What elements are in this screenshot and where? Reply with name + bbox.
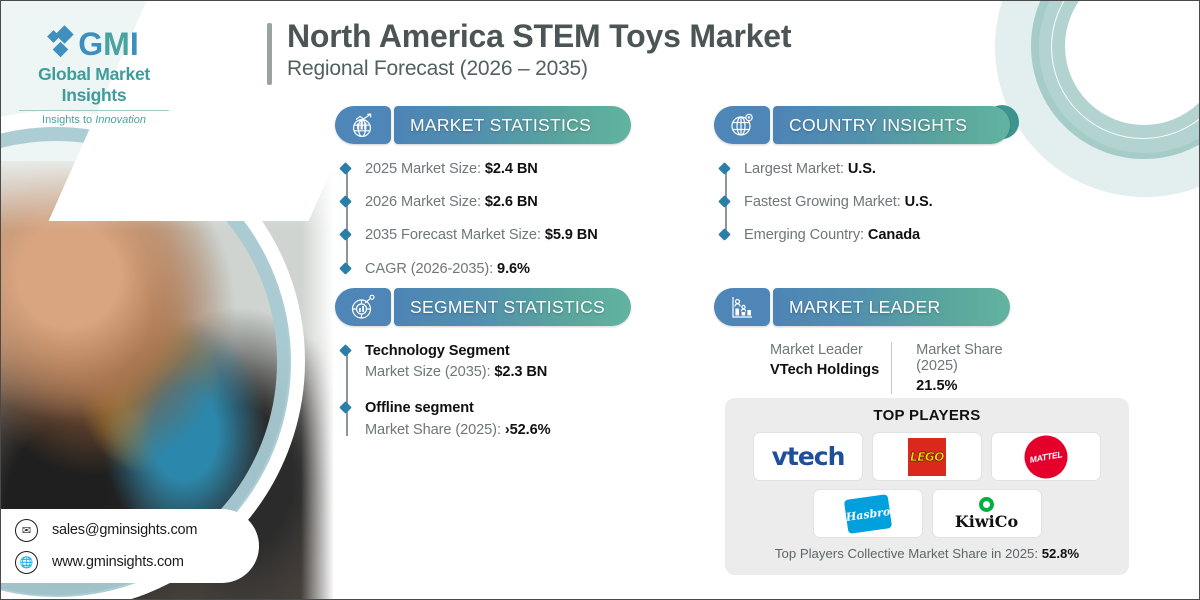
item-label: 2025 Market Size: bbox=[365, 161, 485, 177]
bullet-icon bbox=[718, 162, 731, 175]
item-label: Fastest Growing Market: bbox=[744, 194, 905, 210]
logo-company-name: Global Market Insights bbox=[13, 64, 175, 106]
market-leader-header: MARKET LEADER bbox=[714, 288, 1010, 326]
market-share-block: Market Share (2025) 21.5% bbox=[891, 342, 1014, 394]
list-item: CAGR (2026-2035): 9.6% bbox=[365, 260, 635, 278]
bullet-icon bbox=[339, 402, 352, 415]
country-insights-label: COUNTRY INSIGHTS bbox=[789, 115, 967, 136]
item-heading: Technology Segment bbox=[365, 342, 635, 360]
contact-email-row[interactable]: ✉ sales@gminsights.com bbox=[15, 519, 259, 542]
page-subtitle: Regional Forecast (2026 – 2035) bbox=[287, 57, 791, 81]
market-share-caption: Market Share (2025) bbox=[916, 342, 1014, 374]
bullet-icon bbox=[339, 195, 352, 208]
top-players-row-1: vtech LEGO MATTEL bbox=[737, 432, 1117, 481]
player-logo-vtech: vtech bbox=[753, 432, 863, 481]
top-players-row-2: Hasbro KiwiCo bbox=[737, 489, 1117, 538]
list-item: 2035 Forecast Market Size: $5.9 BN bbox=[365, 226, 635, 244]
market-leader-label: MARKET LEADER bbox=[789, 297, 940, 318]
logo-divider bbox=[19, 110, 169, 111]
list-item: Technology Segment Market Size (2035): $… bbox=[365, 342, 635, 381]
list-item: Offline segment Market Share (2025): ›52… bbox=[365, 399, 635, 438]
bullet-icon bbox=[718, 229, 731, 242]
hasbro-wordmark: Hasbro bbox=[843, 494, 891, 534]
page-title: North America STEM Toys Market bbox=[287, 17, 791, 55]
segment-statistics-label: SEGMENT STATISTICS bbox=[410, 297, 605, 318]
item-value: $2.6 BN bbox=[485, 194, 538, 210]
top-players-note: Top Players Collective Market Share in 2… bbox=[737, 546, 1117, 561]
logo-initials: GMI bbox=[78, 28, 138, 60]
market-statistics-list: 2025 Market Size: $2.4 BN 2026 Market Si… bbox=[335, 160, 635, 278]
item-label: Market Share (2025): bbox=[365, 422, 505, 438]
market-leader-details: Market Leader VTech Holdings Market Shar… bbox=[770, 342, 1014, 394]
logo-mark: GMI bbox=[13, 27, 175, 61]
pie-chart-target-icon bbox=[335, 288, 391, 326]
bullet-icon bbox=[718, 195, 731, 208]
market-leader-value: VTech Holdings bbox=[770, 362, 891, 378]
contact-website-row[interactable]: 🌐 www.gminsights.com bbox=[15, 551, 259, 574]
decorative-arc-hairline bbox=[1051, 0, 1200, 139]
list-item: 2026 Market Size: $2.6 BN bbox=[365, 193, 635, 211]
market-leader-name-block: Market Leader VTech Holdings bbox=[770, 342, 891, 378]
market-statistics-label: MARKET STATISTICS bbox=[410, 115, 591, 136]
item-value: $2.3 BN bbox=[494, 364, 547, 380]
country-insights-list: Largest Market: U.S. Fastest Growing Mar… bbox=[714, 160, 1014, 245]
section-market-leader: MARKET LEADER Market Leader VTech Holdin… bbox=[714, 288, 1014, 394]
list-item: Emerging Country: Canada bbox=[744, 226, 1014, 244]
diamond-icon bbox=[49, 27, 75, 61]
logo-tagline-a: Insights to bbox=[42, 114, 95, 126]
list-item: Fastest Growing Market: U.S. bbox=[744, 193, 1014, 211]
segment-statistics-list: Technology Segment Market Size (2035): $… bbox=[335, 342, 635, 439]
lego-icon: LEGO bbox=[908, 438, 946, 476]
item-label: Largest Market: bbox=[744, 161, 848, 177]
infographic-canvas: GMI Global Market Insights Insights to I… bbox=[0, 0, 1200, 600]
item-label: Emerging Country: bbox=[744, 227, 868, 243]
list-item: 2025 Market Size: $2.4 BN bbox=[365, 160, 635, 178]
market-share-value: 21.5% bbox=[916, 378, 1014, 394]
market-leader-caption: Market Leader bbox=[770, 342, 891, 358]
logo-tagline-b: Innovation bbox=[95, 114, 146, 126]
title-accent-bar bbox=[267, 23, 272, 85]
player-logo-hasbro: Hasbro bbox=[813, 489, 923, 538]
item-value: ›52.6% bbox=[505, 422, 551, 438]
kiwico-circle-icon bbox=[979, 497, 994, 512]
top-players-title: TOP PLAYERS bbox=[737, 407, 1117, 424]
top-players-note-label: Top Players Collective Market Share in 2… bbox=[775, 546, 1042, 561]
bullet-icon bbox=[339, 344, 352, 357]
connector-line bbox=[346, 350, 348, 436]
item-value: 9.6% bbox=[497, 261, 530, 277]
section-segment-statistics: SEGMENT STATISTICS Technology Segment Ma… bbox=[335, 288, 635, 439]
lego-wordmark: LEGO bbox=[910, 450, 944, 464]
item-label: CAGR (2026-2035): bbox=[365, 261, 497, 277]
item-label: 2035 Forecast Market Size: bbox=[365, 227, 545, 243]
item-subline: Market Size (2035): $2.3 BN bbox=[365, 363, 635, 381]
page-title-block: North America STEM Toys Market Regional … bbox=[267, 17, 791, 81]
top-players-note-value: 52.8% bbox=[1042, 546, 1079, 561]
country-insights-header: COUNTRY INSIGHTS bbox=[714, 106, 1010, 144]
contact-bar: ✉ sales@gminsights.com 🌐 www.gminsights.… bbox=[0, 509, 259, 583]
item-value: $2.4 BN bbox=[485, 161, 538, 177]
segment-statistics-pill: SEGMENT STATISTICS bbox=[394, 288, 631, 326]
country-insights-pill: COUNTRY INSIGHTS bbox=[773, 106, 1010, 144]
contact-website[interactable]: www.gminsights.com bbox=[52, 554, 184, 570]
mattel-wordmark: MATTEL bbox=[1023, 433, 1069, 479]
item-value: $5.9 BN bbox=[545, 227, 598, 243]
market-statistics-header: MARKET STATISTICS bbox=[335, 106, 631, 144]
vtech-wordmark: vtech bbox=[772, 442, 845, 471]
kiwico-logo: KiwiCo bbox=[955, 497, 1018, 530]
contact-email[interactable]: sales@gminsights.com bbox=[52, 522, 197, 538]
kiwico-wordmark: KiwiCo bbox=[955, 514, 1018, 530]
list-item: Largest Market: U.S. bbox=[744, 160, 1014, 178]
market-statistics-pill: MARKET STATISTICS bbox=[394, 106, 631, 144]
globe-bar-chart-icon bbox=[335, 106, 391, 144]
item-value: Canada bbox=[868, 227, 920, 243]
globe-icon: 🌐 bbox=[15, 551, 38, 574]
top-players-panel: TOP PLAYERS vtech LEGO MATTEL Hasbro Kiw bbox=[725, 398, 1129, 575]
gmi-logo: GMI Global Market Insights Insights to I… bbox=[13, 27, 175, 126]
item-label: Market Size (2035): bbox=[365, 364, 494, 380]
logo-tagline: Insights to Innovation bbox=[13, 114, 175, 126]
item-value: U.S. bbox=[848, 161, 876, 177]
player-logo-mattel: MATTEL bbox=[991, 432, 1101, 481]
player-logo-lego: LEGO bbox=[872, 432, 982, 481]
decorative-arc-inner bbox=[1031, 0, 1200, 159]
bullet-icon bbox=[339, 162, 352, 175]
player-logo-kiwico: KiwiCo bbox=[932, 489, 1042, 538]
item-subline: Market Share (2025): ›52.6% bbox=[365, 421, 635, 439]
segment-statistics-header: SEGMENT STATISTICS bbox=[335, 288, 631, 326]
bullet-icon bbox=[339, 262, 352, 275]
podium-chart-icon bbox=[714, 288, 770, 326]
item-label: 2026 Market Size: bbox=[365, 194, 485, 210]
section-market-statistics: MARKET STATISTICS 2025 Market Size: $2.4… bbox=[335, 106, 635, 278]
decorative-arc-outer bbox=[995, 0, 1200, 197]
item-heading: Offline segment bbox=[365, 399, 635, 417]
item-value: U.S. bbox=[905, 194, 933, 210]
globe-pin-icon bbox=[714, 106, 770, 144]
bullet-icon bbox=[339, 229, 352, 242]
connector-line bbox=[346, 168, 348, 268]
section-country-insights: COUNTRY INSIGHTS Largest Market: U.S. Fa… bbox=[714, 106, 1014, 245]
envelope-icon: ✉ bbox=[15, 519, 38, 542]
market-leader-pill: MARKET LEADER bbox=[773, 288, 1010, 326]
